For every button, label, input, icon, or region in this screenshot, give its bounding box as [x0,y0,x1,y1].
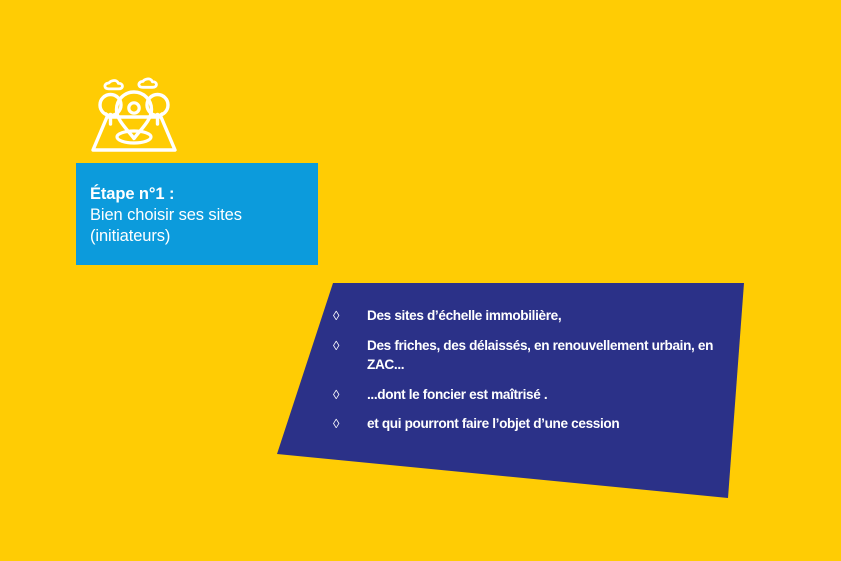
list-item: ◊ Des friches, des délaissés, en renouve… [333,336,733,375]
bullets-list: ◊ Des sites d’échelle immobilière, ◊ Des… [333,306,733,434]
list-item: ◊ Des sites d’échelle immobilière, [333,306,733,326]
step-card: Étape n°1 : Bien choisir ses sites (init… [76,163,318,265]
list-item-text: Des sites d’échelle immobilière, [367,306,733,326]
map-with-trees-and-location-pin-icon [78,68,190,153]
list-item-text: et qui pourront faire l’objet d’une cess… [367,414,733,434]
list-item: ◊ et qui pourront faire l’objet d’une ce… [333,414,733,434]
diamond-bullet-icon: ◊ [333,414,367,433]
list-item-text: ...dont le foncier est maîtrisé . [367,385,733,405]
step-subtitle-line-2: (initiateurs) [90,226,318,247]
step-title: Étape n°1 : [90,184,318,205]
list-item-text: Des friches, des délaissés, en renouvell… [367,336,733,375]
list-item: ◊ ...dont le foncier est maîtrisé . [333,385,733,405]
step-subtitle-line-1: Bien choisir ses sites [90,205,318,226]
diamond-bullet-icon: ◊ [333,385,367,404]
diamond-bullet-icon: ◊ [333,336,367,355]
slide-canvas: Étape n°1 : Bien choisir ses sites (init… [0,0,841,561]
diamond-bullet-icon: ◊ [333,306,367,325]
